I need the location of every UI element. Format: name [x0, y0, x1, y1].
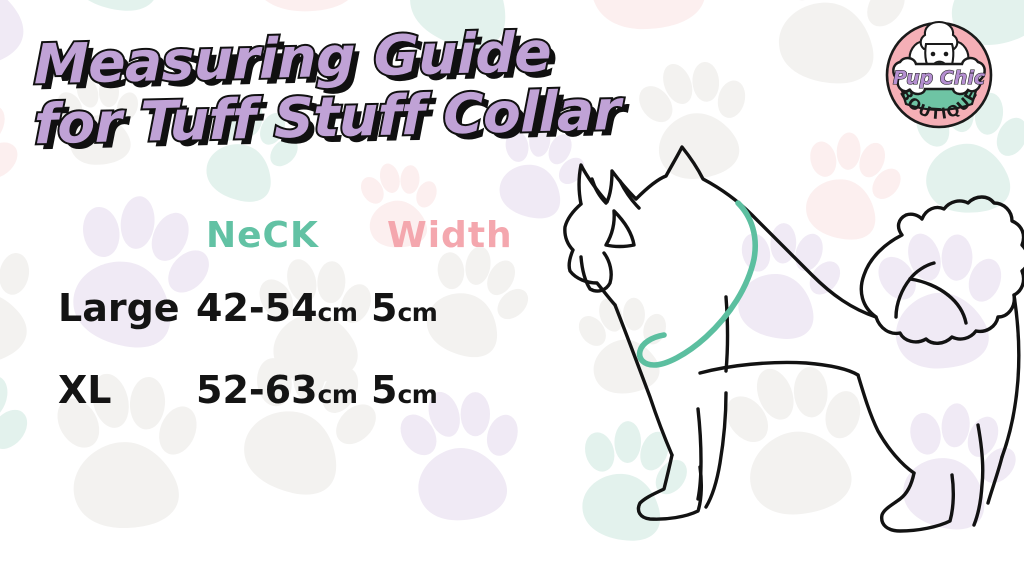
header-size — [0, 234, 196, 252]
row-width-xl-unit: cm — [397, 380, 437, 409]
size-chart-canvas: Measuring Guide for Tuff Stuff Collar Ne… — [0, 0, 1024, 563]
row-size-xl: XL — [0, 368, 196, 412]
row-neck-large: 42-54cm — [196, 286, 371, 330]
row-neck-large-value: 42-54 — [196, 286, 318, 330]
paw-print-2 — [224, 0, 399, 19]
row-size-large: Large — [0, 286, 196, 330]
row-neck-xl-unit: cm — [318, 380, 358, 409]
row-width-xl-value: 5 — [371, 368, 397, 412]
row-width-xl: 5cm — [371, 368, 521, 412]
table-row: XL 52-63cm 5cm — [0, 368, 540, 412]
row-spacer — [0, 330, 540, 368]
header-neck: NeCK — [196, 215, 381, 256]
paw-print-1 — [52, 0, 208, 22]
row-width-large-value: 5 — [371, 286, 397, 330]
table-header-row: NeCK Width — [0, 215, 540, 286]
row-neck-xl: 52-63cm — [196, 368, 371, 412]
row-width-large-unit: cm — [397, 298, 437, 327]
page-title: Measuring Guide for Tuff Stuff Collar — [34, 32, 554, 146]
neck-measure-line — [640, 203, 756, 365]
table-row: Large 42-54cm 5cm — [0, 286, 540, 330]
row-width-large: 5cm — [371, 286, 521, 330]
paw-print-4 — [556, 0, 748, 41]
row-neck-large-unit: cm — [318, 298, 358, 327]
page-title-line-2: for Tuff Stuff Collar — [34, 86, 554, 153]
logo-brand-script: Pup Chic — [893, 67, 986, 89]
size-table: NeCK Width Large 42-54cm 5cm XL 52-63cm … — [0, 215, 540, 412]
header-width: Width — [381, 215, 537, 256]
dog-illustration — [540, 75, 1024, 563]
brand-logo[interactable]: Pup Chic BOUTIQUE — [876, 12, 1002, 138]
row-neck-xl-value: 52-63 — [196, 368, 318, 412]
